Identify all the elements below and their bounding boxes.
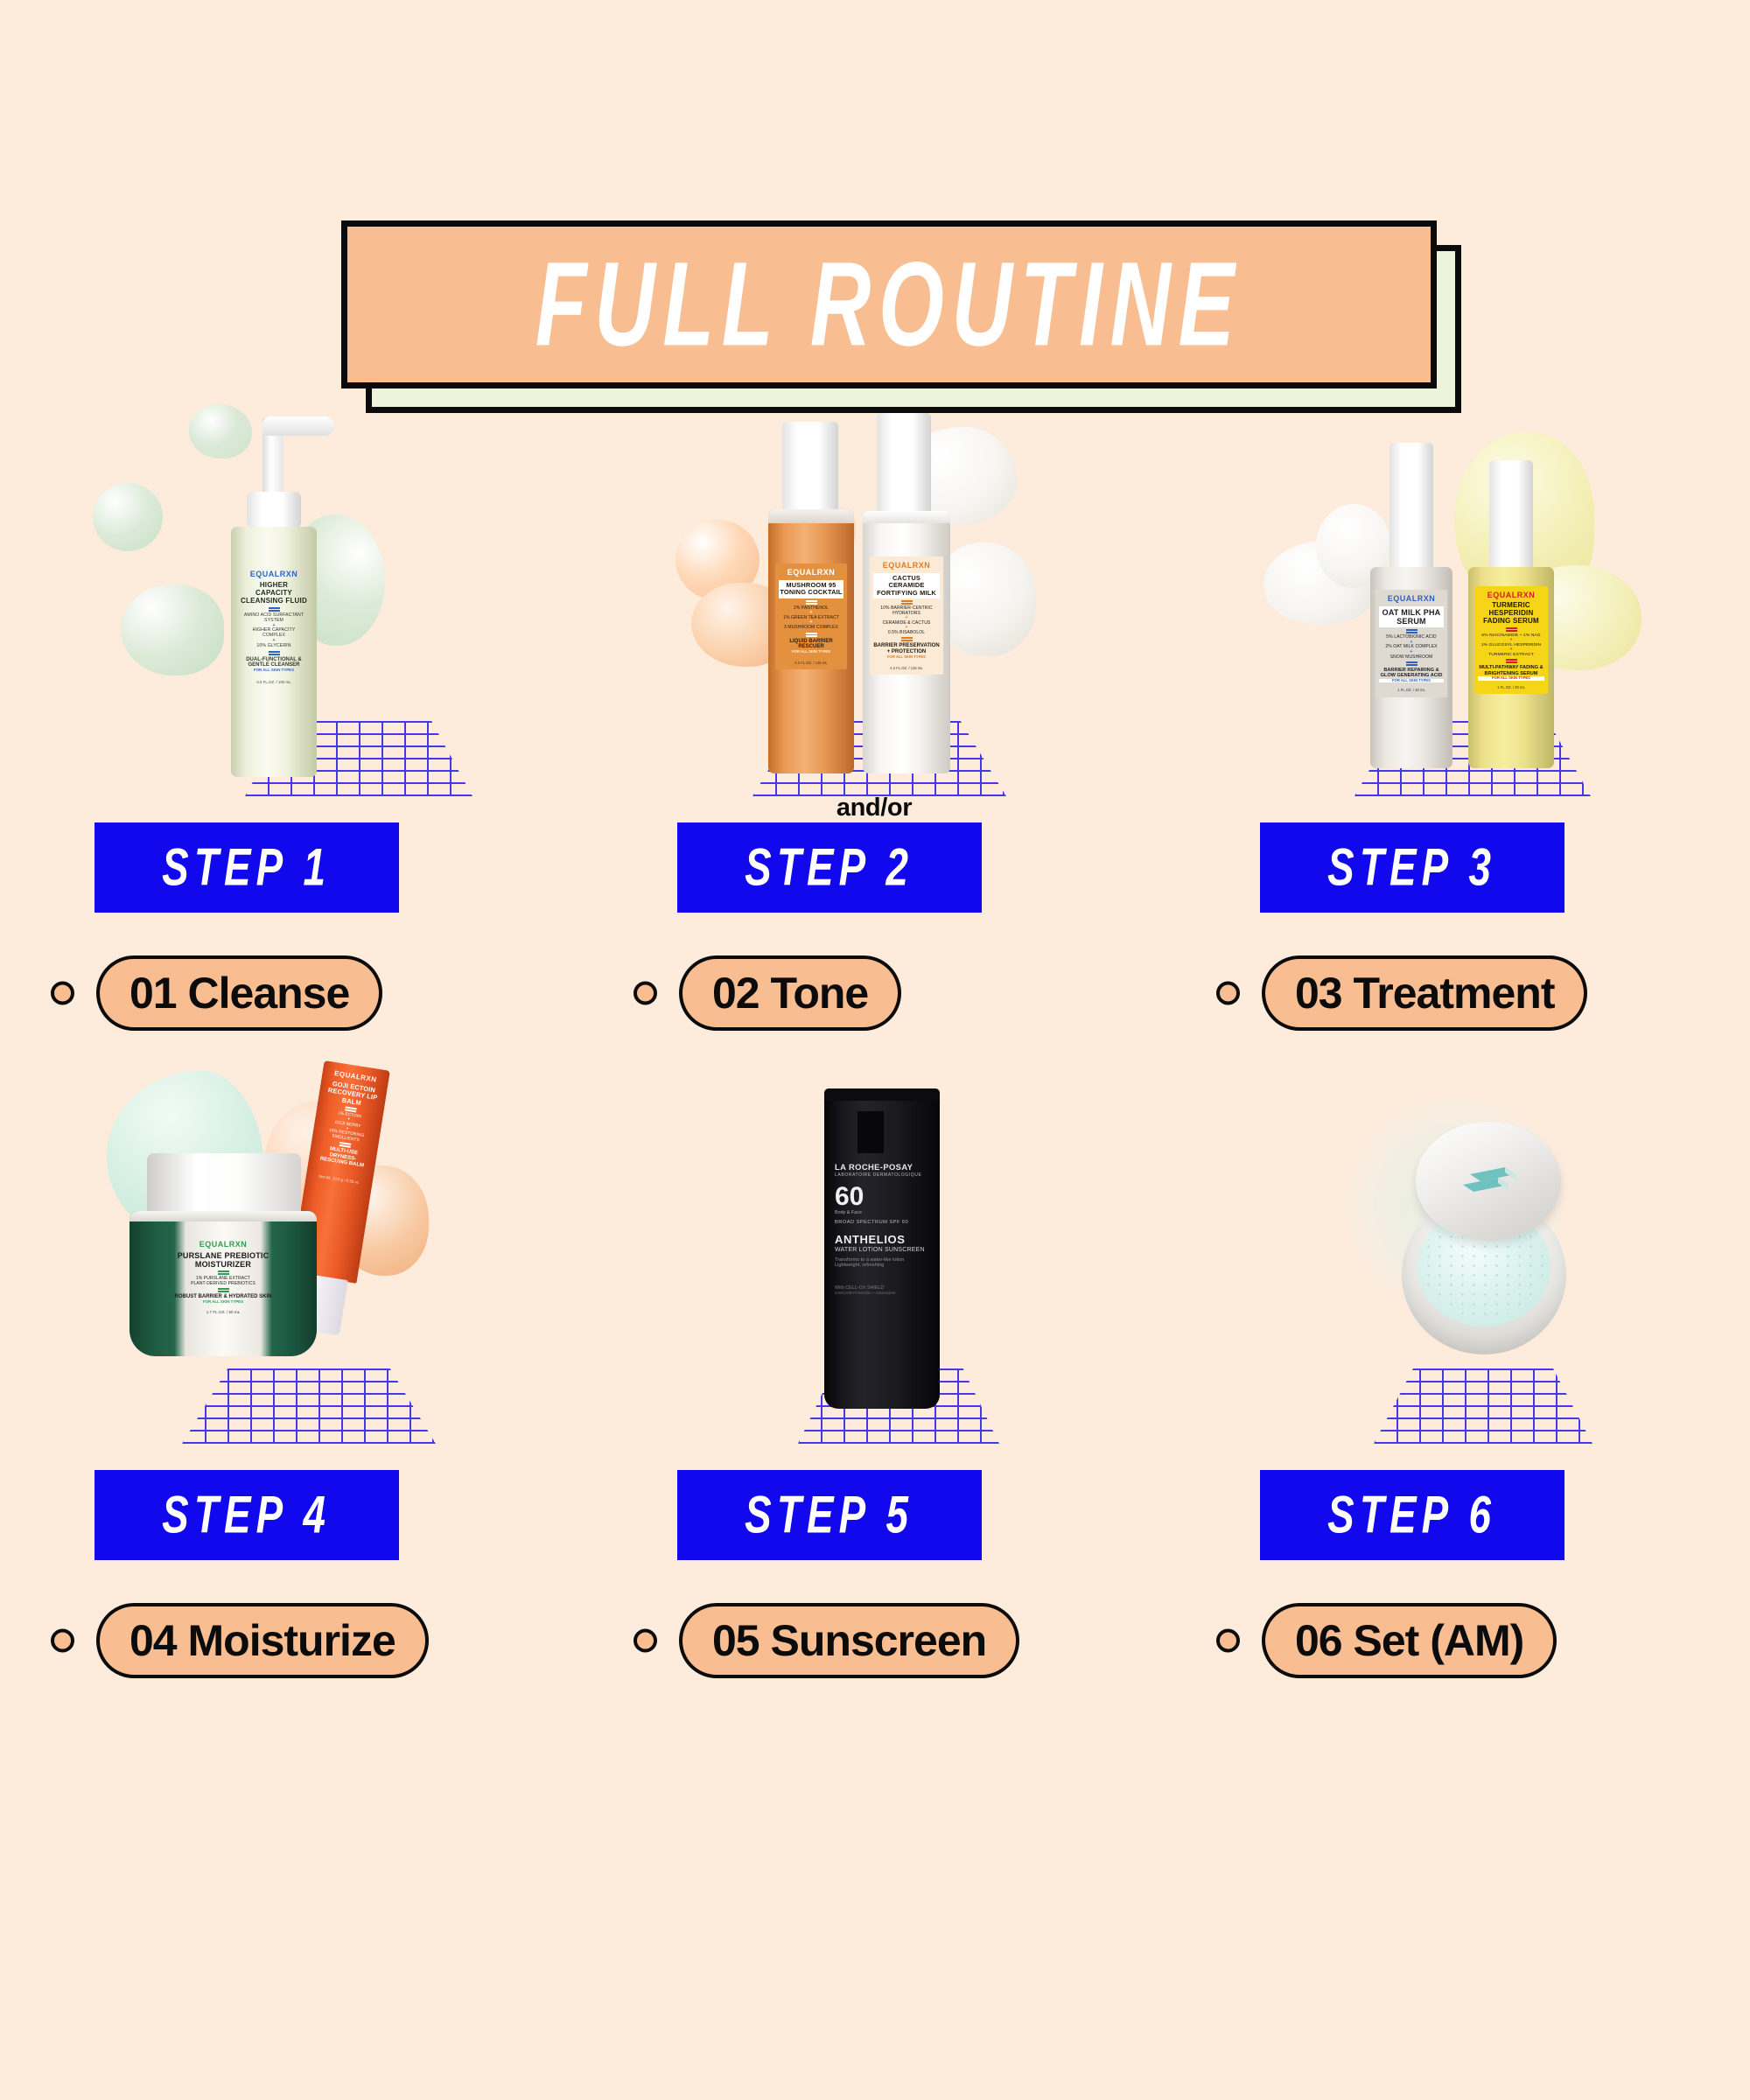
step-badge-label: STEP 5 — [745, 1485, 914, 1546]
product-name: OAT MILK PHA SERUM — [1379, 606, 1444, 627]
gel-blob — [121, 584, 224, 675]
ingredient-3: SNOW MUSHROOM — [1379, 655, 1444, 661]
pill-row-3: 03 Treatment — [1165, 927, 1748, 1059]
step-pill-label: 03 Treatment — [1295, 971, 1554, 1015]
badge-row-4: STEP 4 — [0, 1444, 583, 1575]
product-label: EQUALRXN TURMERIC HESPERIDIN FADING SERU… — [1474, 586, 1548, 694]
sunscreen-name2: WATER LOTION SUNSCREEN — [835, 1247, 929, 1254]
sunscreen-name: ANTHELIOS — [835, 1234, 929, 1247]
product-oat-milk-serum: EQUALRXN OAT MILK PHA SERUM 5% LACTOBION… — [1363, 443, 1458, 768]
step-pill-label: 06 Set (AM) — [1295, 1619, 1523, 1662]
product-toning-cocktail: EQUALRXN MUSHROOM 95 TONING COCKTAIL 2% … — [761, 422, 859, 773]
step-pill-1[interactable]: 01 Cleanse — [96, 955, 382, 1031]
product-stage-5: LA ROCHE-POSAY LABORATOIRE DERMATOLOGIQU… — [583, 1059, 1165, 1444]
step-cell-2: EQUALRXN MUSHROOM 95 TONING COCKTAIL 2% … — [583, 411, 1165, 1059]
bottle-body: EQUALRXN OAT MILK PHA SERUM 5% LACTOBION… — [1370, 567, 1452, 768]
pill-row-2: 02 Tone — [583, 927, 1165, 1059]
page-title: FULL ROUTINE — [535, 245, 1242, 365]
product-stage-4: EQUALRXN GOJI ECTOIN RECOVERY LIP BALM 1… — [0, 1059, 583, 1444]
skin-type: FOR ALL SKIN TYPES — [241, 668, 307, 673]
product-claim: LIQUID BARRIER RESCUER — [779, 639, 843, 650]
badge-row-2: STEP 2 — [583, 796, 1165, 927]
bottle-cap — [782, 422, 838, 513]
product-label: EQUALRXN HIGHER CAPACITY CLEANSING FLUID… — [237, 565, 311, 689]
step-cell-1: EQUALRXN HIGHER CAPACITY CLEANSING FLUID… — [0, 411, 583, 1059]
pill-row-1: 01 Cleanse — [0, 927, 583, 1059]
step-row-bottom: EQUALRXN GOJI ECTOIN RECOVERY LIP BALM 1… — [0, 1059, 1750, 1706]
product-label: EQUALRXN CACTUS CERAMIDE FORTIFYING MILK… — [870, 556, 943, 675]
product-cleansing-fluid: EQUALRXN HIGHER CAPACITY CLEANSING FLUID… — [217, 416, 329, 777]
product-turmeric-serum: EQUALRXN TURMERIC HESPERIDIN FADING SERU… — [1461, 460, 1559, 768]
ingredient-2: PLANT-DERIVED PREBIOTICS — [173, 1282, 273, 1287]
title-box: FULL ROUTINE — [341, 220, 1437, 388]
bottle-body: EQUALRXN MUSHROOM 95 TONING COCKTAIL 2% … — [768, 509, 854, 773]
badge-row-5: STEP 5 — [583, 1444, 1165, 1575]
bullet-dot-icon — [633, 1629, 657, 1653]
step-badge-label: STEP 2 — [745, 837, 914, 899]
sunscreen-brand: LA ROCHE-POSAY — [835, 1163, 929, 1172]
bullet-dot-icon — [1216, 982, 1240, 1005]
brand-name: EQUALRXN — [173, 1240, 273, 1249]
spf-number: 60 — [835, 1185, 929, 1210]
product-claim: DUAL-FUNCTIONAL & GENTLE CLEANSER — [241, 657, 307, 668]
skin-type: FOR ALL SKIN TYPES — [779, 650, 843, 654]
product-moisturizer-jar: EQUALRXN PURSLANE PREBIOTIC MOISTURIZER … — [122, 1153, 324, 1374]
step-pill-3[interactable]: 03 Treatment — [1262, 955, 1587, 1031]
brand-name: EQUALRXN — [1379, 594, 1444, 603]
sunscreen-sub-brand: LABORATOIRE DERMATOLOGIQUE — [835, 1173, 929, 1179]
step-cell-5: LA ROCHE-POSAY LABORATOIRE DERMATOLOGIQU… — [583, 1059, 1165, 1706]
grid-floor — [182, 1368, 436, 1444]
product-stage-1: EQUALRXN HIGHER CAPACITY CLEANSING FLUID… — [0, 411, 583, 796]
product-name: PURSLANE PREBIOTIC MOISTURIZER — [173, 1251, 273, 1269]
gel-blob — [93, 483, 163, 551]
step-cell-6: STEP 6 06 Set (AM) — [1165, 1059, 1748, 1706]
spf-line: BROAD SPECTRUM SPF 60 — [835, 1220, 929, 1225]
product-name: HIGHER CAPACITY CLEANSING FLUID — [241, 582, 307, 605]
product-fortifying-milk: EQUALRXN CACTUS CERAMIDE FORTIFYING MILK… — [857, 413, 955, 773]
step-cell-3: EQUALRXN OAT MILK PHA SERUM 5% LACTOBION… — [1165, 411, 1748, 1059]
pill-row-5: 05 Sunscreen — [583, 1575, 1165, 1706]
step-badge-5[interactable]: STEP 5 — [677, 1470, 982, 1560]
product-size: 1.7 FL.OZ. / 50 mL — [173, 1310, 273, 1314]
lid-logo-icon — [1458, 1160, 1521, 1200]
product-size: 1 FL.OZ. / 30 mL — [1379, 689, 1444, 693]
step-badge-3[interactable]: STEP 3 — [1260, 822, 1564, 913]
steps-grid: EQUALRXN HIGHER CAPACITY CLEANSING FLUID… — [0, 411, 1750, 1706]
bullet-dot-icon — [633, 982, 657, 1005]
sunscreen-desc-2: Lightweight, refreshing — [835, 1263, 929, 1268]
brand-mark — [857, 1111, 884, 1153]
product-label: EQUALRXN OAT MILK PHA SERUM 5% LACTOBION… — [1375, 590, 1447, 697]
bottle-body: EQUALRXN TURMERIC HESPERIDIN FADING SERU… — [1468, 567, 1554, 768]
product-claim: BARRIER PRESERVATION + PROTECTION — [873, 643, 940, 654]
step-cell-4: EQUALRXN GOJI ECTOIN RECOVERY LIP BALM 1… — [0, 1059, 583, 1706]
bullet-dot-icon — [51, 1629, 74, 1653]
brand-name: EQUALRXN — [779, 568, 843, 577]
ingredient-3: 3 MUSHROOM COMPLEX — [779, 626, 843, 631]
skin-type: FOR ALL SKIN TYPES — [1478, 676, 1544, 681]
product-stage-6 — [1165, 1059, 1748, 1444]
grid-floor — [1374, 1368, 1592, 1444]
ingredient-3: TURMERIC EXTRACT — [1478, 653, 1544, 657]
step-badge-label: STEP 6 — [1328, 1485, 1497, 1546]
step-badge-4[interactable]: STEP 4 — [94, 1470, 399, 1560]
step-pill-4[interactable]: 04 Moisturize — [96, 1603, 429, 1678]
title-banner: FULL ROUTINE — [341, 220, 1461, 413]
product-claim: MULTI-PATHWAY FADING & BRIGHTENING SERUM — [1478, 665, 1544, 676]
product-size: 4.2 FL.OZ. / 125 mL — [779, 661, 843, 666]
bottle-cap — [877, 413, 931, 516]
tube-body: LA ROCHE-POSAY LABORATOIRE DERMATOLOGIQU… — [824, 1088, 940, 1409]
badge-row-1: STEP 1 — [0, 796, 583, 927]
brand-name: EQUALRXN — [1478, 591, 1544, 599]
brand-name: EQUALRXN — [873, 561, 940, 570]
step-pill-label: 01 Cleanse — [129, 971, 349, 1015]
jar-lid — [147, 1153, 301, 1218]
step-badge-2[interactable]: STEP 2 — [677, 822, 982, 913]
product-label: LA ROCHE-POSAY LABORATOIRE DERMATOLOGIQU… — [831, 1158, 933, 1300]
step-pill-label: 05 Sunscreen — [712, 1619, 986, 1662]
bottle-body: EQUALRXN HIGHER CAPACITY CLEANSING FLUID… — [231, 527, 317, 777]
sunscreen-tech-2: UVA/UVB Protection + Antioxidant — [835, 1291, 929, 1295]
bullet-dot-icon — [1216, 1629, 1240, 1653]
pump-collar — [247, 492, 301, 528]
ingredient-1: AMINO ACID SURFACTANT SYSTEM — [241, 613, 307, 624]
pill-row-6: 06 Set (AM) — [1165, 1575, 1748, 1706]
bottle-body: EQUALRXN CACTUS CERAMIDE FORTIFYING MILK… — [863, 511, 950, 773]
brand-name: EQUALRXN — [241, 570, 307, 578]
product-name: CACTUS CERAMIDE FORTIFYING MILK — [873, 573, 940, 598]
product-stage-3: EQUALRXN OAT MILK PHA SERUM 5% LACTOBION… — [1165, 411, 1748, 796]
product-size: 1 FL.OZ. / 30 mL — [1478, 686, 1544, 690]
product-size: 4.2 FL.OZ. / 125 mL — [873, 667, 940, 671]
ingredient-3: 0.5% BISABOLOL — [873, 631, 940, 636]
product-stage-2: EQUALRXN MUSHROOM 95 TONING COCKTAIL 2% … — [583, 411, 1165, 796]
product-label: EQUALRXN PURSLANE PREBIOTIC MOISTURIZER … — [170, 1235, 276, 1319]
step-badge-label: STEP 1 — [163, 837, 332, 899]
step-badge-label: STEP 4 — [163, 1485, 332, 1546]
bullet-dot-icon — [51, 982, 74, 1005]
product-size: 6.5 FL.OZ. / 190 mL — [241, 681, 307, 685]
step-pill-label: 04 Moisturize — [129, 1619, 395, 1662]
step-pill-label: 02 Tone — [712, 971, 868, 1015]
skin-type: FOR ALL SKIN TYPES — [873, 655, 940, 660]
jar-body: EQUALRXN PURSLANE PREBIOTIC MOISTURIZER … — [129, 1211, 317, 1356]
product-label: EQUALRXN MUSHROOM 95 TONING COCKTAIL 2% … — [775, 563, 847, 669]
product-name: TURMERIC HESPERIDIN FADING SERUM — [1478, 602, 1544, 626]
product-name: MUSHROOM 95 TONING COCKTAIL — [779, 580, 843, 598]
badge-row-3: STEP 3 — [1165, 796, 1748, 927]
infographic-page: FULL ROUTINE — [0, 0, 1750, 2100]
spf-use: Body & Face — [835, 1210, 929, 1215]
step-pill-6[interactable]: 06 Set (AM) — [1262, 1603, 1557, 1678]
pill-row-4: 04 Moisturize — [0, 1575, 583, 1706]
dropper-cap — [1489, 460, 1533, 572]
ingredient-3: 10% GLYCERIN — [241, 644, 307, 649]
step-pill-5[interactable]: 05 Sunscreen — [679, 1603, 1019, 1678]
step-row-top: EQUALRXN HIGHER CAPACITY CLEANSING FLUID… — [0, 411, 1750, 1059]
product-sunscreen-tube: LA ROCHE-POSAY LABORATOIRE DERMATOLOGIQU… — [824, 1088, 940, 1414]
step-badge-1[interactable]: STEP 1 — [94, 822, 399, 913]
step-pill-2[interactable]: 02 Tone — [679, 955, 901, 1031]
step-badge-label: STEP 3 — [1328, 837, 1497, 899]
product-setting-powder — [1382, 1122, 1585, 1360]
badge-row-6: STEP 6 — [1165, 1444, 1748, 1575]
skin-type: FOR ALL SKIN TYPES — [173, 1300, 273, 1305]
product-claim: BARRIER REPAIRING & GLOW GENERATING ACID — [1379, 668, 1444, 679]
dropper-cap — [1389, 443, 1433, 572]
step-badge-6[interactable]: STEP 6 — [1260, 1470, 1564, 1560]
skin-type: FOR ALL SKIN TYPES — [1379, 679, 1444, 683]
